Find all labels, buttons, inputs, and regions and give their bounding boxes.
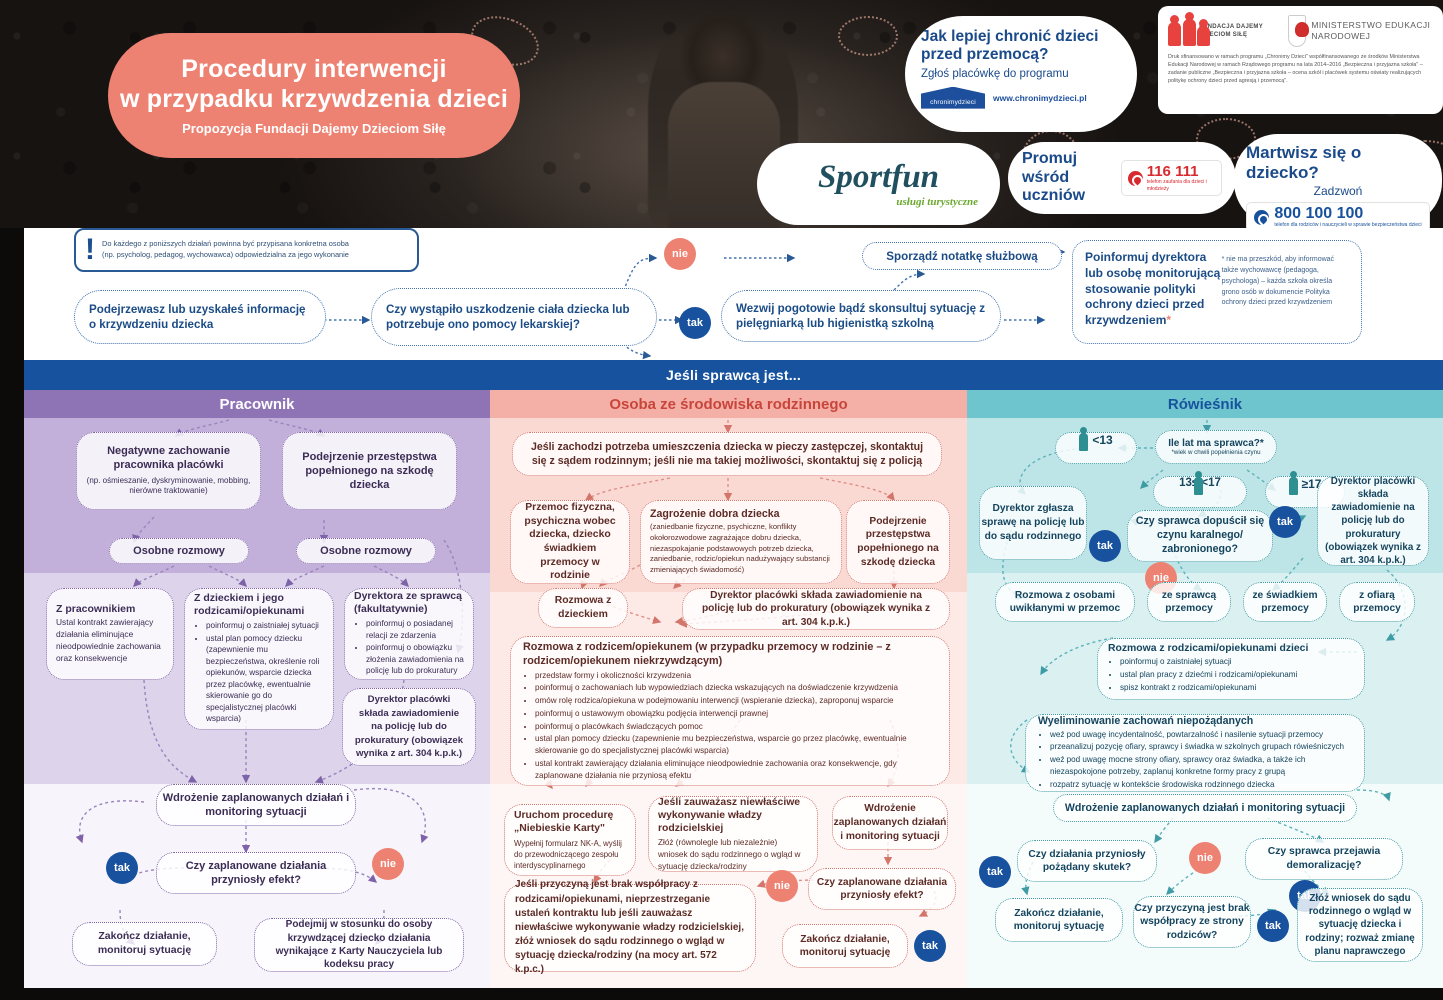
node-court-application[interactable]: Złóż wniosek do sądu rodzinnego o wgląd … <box>1297 888 1423 962</box>
fdds-label: FUNDACJA DAJEMY DZIECIOM SIŁĘ <box>1199 23 1276 39</box>
inform-title: Poinformuj dyrektora lub osobę monitoruj… <box>1085 250 1222 329</box>
men-logo: MINISTERSTWO EDUKACJI NARODOWEJ <box>1288 15 1433 47</box>
node-with-employee[interactable]: Z pracownikiem Ustal kontrakt zawierając… <box>46 588 174 680</box>
phone-icon <box>1128 171 1143 186</box>
node-write-memo[interactable]: Sporządź notatkę służbową <box>862 242 1062 270</box>
top-flow-band: ! Do każdego z poniższych działań powinn… <box>24 228 1443 360</box>
node-end-monitor[interactable]: Zakończ działanie, monitoruj sytuację <box>782 924 908 968</box>
label-no: nie <box>372 848 404 880</box>
ministry-fineprint: Druk sfinansowano w ramach programu „Chr… <box>1168 53 1433 85</box>
page-title: Procedury interwencji w przypadku krzywd… <box>108 33 520 158</box>
bullet: weź pod uwagę incydentalność, powtarzaln… <box>1050 729 1352 741</box>
callout-promo-116111[interactable]: Promuj wśród uczniów 116 111 telefon zau… <box>1008 142 1236 214</box>
node-child-welfare-threat[interactable]: Zagrożenie dobra dziecka (zaniedbanie fi… <box>640 500 842 584</box>
node-talk-with-child[interactable]: Rozmowa z dzieckiem <box>538 588 628 628</box>
bullet: rozpatrz sytuację w kontekście środowisk… <box>1050 779 1352 791</box>
node-employment-actions[interactable]: Podejmij w stosunku do osoby krzywdzącej… <box>254 918 464 972</box>
bullet: poinformuj o zaistniałej sytuacji <box>206 620 324 631</box>
inform-title-text: Poinformuj dyrektora lub osobę monitoruj… <box>1085 250 1220 327</box>
notice-box: ! Do każdego z poniższych działań powinn… <box>74 228 419 272</box>
polish-eagle-icon <box>1288 15 1306 47</box>
title-line-1: Procedury interwencji <box>181 55 446 85</box>
node-bullets: weź pod uwagę incydentalność, powtarzaln… <box>1050 729 1352 792</box>
node-implement-actions[interactable]: Wdrożenie zaplanowanych działań i monito… <box>1053 794 1357 822</box>
age-label: <13 <box>1092 433 1112 463</box>
node-title: Z pracownikiem <box>56 603 135 615</box>
node-bullets: poinformuj o zaistniałej sytuacji ustal … <box>206 620 324 725</box>
sponsor-tagline: usługi turystyczne <box>896 196 978 208</box>
logos-row: FUNDACJA DAJEMY DZIECIOM SIŁĘ MINISTERST… <box>1168 15 1433 47</box>
node-talk-with-involved[interactable]: Rozmowa z osobami uwikłanymi w przemoc <box>995 582 1135 622</box>
label-no: nie <box>664 238 696 270</box>
callout-worry-800100100[interactable]: Martwisz się o dziecko? Zadzwoń 800 100 … <box>1234 134 1442 226</box>
node-criminal-act-question[interactable]: Czy sprawca dopuścił się czynu karalnego… <box>1127 510 1273 562</box>
bottom-edge <box>0 988 1443 1000</box>
node-report-to-police[interactable]: Dyrektor zgłasza sprawę na policję lub d… <box>979 486 1087 560</box>
node-title: Rozmowa z rodzicem/opiekunem (w przypadk… <box>523 640 937 668</box>
node-court-application[interactable]: Jeśli przyczyną jest brak współpracy z r… <box>504 884 756 972</box>
bullet: ustal plan pracy z dziećmi i rodzicami/o… <box>1120 669 1297 681</box>
node-director-notify-police[interactable]: Dyrektor placówki składa zawiadomienie n… <box>1317 476 1429 566</box>
node-bullets: poinformuj o zaistniałej sytuacji ustal … <box>1120 656 1297 694</box>
phone-icon <box>1254 210 1269 225</box>
inform-footnote: * nie ma przeszkód, aby informować także… <box>1222 255 1349 309</box>
node-end-monitor[interactable]: Zakończ działanie, monitoruj sytuację <box>72 922 217 966</box>
node-director-notify-police[interactable]: Dyrektor placówki składa zawiadomienie n… <box>682 588 950 630</box>
men-label: MINISTERSTWO EDUKACJI NARODOWEJ <box>1311 20 1433 43</box>
node-with-child-and-parents[interactable]: Z dzieckiem i jego rodzicami/opiekunami … <box>184 588 334 730</box>
label-yes: tak <box>979 856 1011 888</box>
columns-container: Pracownik <box>24 390 1443 1000</box>
node-with-perpetrator[interactable]: ze sprawcą przemocy <box>1147 582 1231 622</box>
node-sub: (np. ośmieszanie, dyskryminowanie, mobbi… <box>85 476 252 497</box>
label-no: nie <box>766 870 798 902</box>
bullet: ustal kontrakt zawierający działania eli… <box>535 758 937 781</box>
title-subtitle: Propozycja Fundacji Dajemy Dzieciom Siłę <box>182 121 446 136</box>
program-heading-1: Jak lepiej chronić dzieci <box>921 28 1121 46</box>
column-rowiesnik: Rówieśnik <box>967 390 1443 1000</box>
label-no: nie <box>1189 842 1221 874</box>
node-inform-director[interactable]: Poinformuj dyrektora lub osobę monitoruj… <box>1072 240 1362 344</box>
node-parental-authority[interactable]: Jeśli zauważasz niewłaściwe wykonywanie … <box>648 796 818 872</box>
node-age-under13[interactable]: <13 <box>1055 432 1137 464</box>
bullet: poinformuj o ustawowym obowiązku podjęci… <box>535 708 937 720</box>
node-blue-cards-procedure[interactable]: Uruchom procedurę „Niebieskie Karty" Wyp… <box>504 804 636 876</box>
node-title: Negatywne zachowanie pracownika placówki <box>85 445 252 473</box>
node-crime-suspicion[interactable]: Podejrzenie przestępstwa popełnionego na… <box>282 432 457 510</box>
node-demoralization-question[interactable]: Czy sprawca przejawia demoralizację? <box>1245 838 1403 880</box>
label-yes: tak <box>914 930 946 962</box>
bullet: poinformuj o zachowaniach lub wypowiedzi… <box>535 682 937 694</box>
bullet: przedstaw formy i okoliczności krzywdzen… <box>535 670 937 682</box>
chronimydzieci-logo: chronimydzieci www.chronimydzieci.pl <box>921 87 1121 109</box>
person-icon <box>1079 433 1088 451</box>
node-title: Dyrektora ze sprawcą (fakultatywnie) <box>354 590 464 616</box>
node-title: Jeśli zauważasz niewłaściwe wykonywanie … <box>658 796 808 835</box>
bullet: weź pod uwagę mocne strony ofiary, spraw… <box>1050 754 1352 777</box>
notice-line-1: Do każdego z poniższych działań powinna … <box>102 239 349 250</box>
bullet: poinformuj o obowiązku złożenia zawiadom… <box>366 642 464 676</box>
helpline-116111[interactable]: 116 111 telefon zaufania dla dzieci i mł… <box>1121 160 1222 196</box>
age-question-note: *wiek w chwili popełnienia czynu <box>1160 449 1272 456</box>
node-effect-question[interactable]: Czy działania przyniosły pożądany skutek… <box>1017 840 1157 882</box>
node-crime-suspicion[interactable]: Podejrzenie przestępstwa popełnionego na… <box>846 500 950 584</box>
program-sub: Zgłoś placówkę do programu <box>921 68 1121 80</box>
callout-sponsor-sportfun[interactable]: Sportfun usługi turystyczne <box>757 143 1000 225</box>
bullet: poinformuj o placówkach świadczących pom… <box>535 721 937 733</box>
title-line-2: w przypadku krzywdzenia dzieci <box>120 85 508 115</box>
helpline-caption: telefon zaufania dla dzieci i młodzieży <box>1147 179 1215 192</box>
node-title: Wyeliminowanie zachowań niepożądanych <box>1038 715 1253 727</box>
column-title-rodzina: Osoba ze środowiska rodzinnego <box>490 390 967 418</box>
node-director-notify-police[interactable]: Dyrektor placówki składa zawiadomienie n… <box>342 688 476 766</box>
bullet: omów rolę rodzica/opiekuna w podejmowani… <box>535 695 937 707</box>
helpline-number: 800 100 100 <box>1274 206 1421 222</box>
program-url[interactable]: www.chronimydzieci.pl <box>993 93 1087 103</box>
node-cooperation-question[interactable]: Czy przyczyną jest brak współpracy ze st… <box>1133 896 1251 948</box>
column-pracownik: Pracownik <box>24 390 490 1000</box>
node-bullets: poinformuj o posiadanej relacji ze zdarz… <box>366 618 464 677</box>
sponsor-name: Sportfun <box>818 161 939 194</box>
node-foster-care[interactable]: Jeśli zachodzi potrzeba umieszczenia dzi… <box>512 432 942 476</box>
node-end-monitor[interactable]: Zakończ działanie, monitoruj sytuację <box>995 898 1123 942</box>
program-badge-label: chronimydzieci <box>930 99 976 109</box>
helpline-number: 116 111 <box>1147 164 1215 179</box>
node-sub: Wypełnij formularz NK-A, wyślij do przew… <box>514 838 626 871</box>
callout-ministry-logos: FUNDACJA DAJEMY DZIECIOM SIŁĘ MINISTERST… <box>1158 6 1443 114</box>
node-sub: Ustal kontrakt zawierający działania eli… <box>56 617 164 664</box>
age-question-text: Ile lat ma sprawca?* <box>1160 438 1272 450</box>
bullet: przeanalizuj pozycję ofiary, sprawcy i ś… <box>1050 741 1352 753</box>
node-with-witness[interactable]: ze świadkiem przemocy <box>1243 582 1327 622</box>
person-icon <box>1194 477 1203 495</box>
node-bullets: przedstaw formy i okoliczności krzywdzen… <box>535 670 937 783</box>
node-title: Z dzieckiem i jego rodzicami/opiekunami <box>194 592 324 618</box>
column-title-pracownik: Pracownik <box>24 390 490 418</box>
node-start[interactable]: Podejrzewasz lub uzyskałeś informację o … <box>74 290 326 344</box>
label-yes: tak <box>679 307 711 339</box>
node-implement-actions[interactable]: Wdrożenie zaplanowanych działań i monito… <box>156 784 356 826</box>
notice-text: Do każdego z poniższych działań powinna … <box>102 239 349 260</box>
callout-program[interactable]: Jak lepiej chronić dzieci przed przemocą… <box>905 16 1137 132</box>
node-effect-question[interactable]: Czy zaplanowane działania przyniosły efe… <box>156 852 356 894</box>
node-age-13-17[interactable]: 13≤ <17 <box>1153 476 1247 508</box>
house-icon: chronimydzieci <box>921 87 985 109</box>
separator-bar: Jeśli sprawcą jest... <box>24 360 1443 390</box>
fdds-logo: FUNDACJA DAJEMY DZIECIOM SIŁĘ <box>1168 16 1276 46</box>
label-yes-left: tak <box>1089 530 1121 562</box>
bullet: ustal plan pomocy dziecku (zapewnienie m… <box>535 733 937 756</box>
node-talk-with-parents[interactable]: Rozmowa z rodzicami/opiekunami dzieci po… <box>1097 638 1365 700</box>
exclamation-icon: ! <box>85 238 95 262</box>
footnote-star: * <box>1166 313 1171 327</box>
label-yes-right: tak <box>1269 506 1301 538</box>
node-sub: Złóż (równolegle lub niezależnie) wniose… <box>658 837 808 873</box>
decorative-swirl <box>838 16 898 56</box>
family-figures-icon <box>1168 16 1195 46</box>
worry-sub: Zadzwoń <box>1314 184 1363 198</box>
infographic-page: Procedury interwencji w przypadku krzywd… <box>0 0 1443 1000</box>
promo-heading-2: uczniów <box>1022 187 1113 205</box>
column-title-rowiesnik: Rówieśnik <box>967 390 1443 418</box>
bullet: poinformuj o posiadanej relacji ze zdarz… <box>366 618 464 641</box>
label-yes: tak <box>106 852 138 884</box>
promo-heading-1: Promuj wśród <box>1022 150 1113 187</box>
bullet: poinformuj o zaistniałej sytuacji <box>1120 656 1297 668</box>
notice-line-2: (np. psycholog, pedagog, wychowawca) odp… <box>102 250 349 261</box>
label-yes-cooperation: tak <box>1257 910 1289 942</box>
node-physical-violence[interactable]: Przemoc fizyczna, psychiczna wobec dziec… <box>510 500 630 584</box>
node-title: Uruchom procedurę „Niebieskie Karty" <box>514 809 626 835</box>
node-implement-actions[interactable]: Wdrożenie zaplanowanych działań i monito… <box>832 796 948 850</box>
worry-heading: Martwisz się o dziecko? <box>1246 143 1430 183</box>
node-call-help[interactable]: Wezwij pogotowie bądź skonsultuj sytuacj… <box>721 290 1001 342</box>
node-separate-talks-right[interactable]: Osobne rozmowy <box>296 538 436 564</box>
node-director-with-perpetrator[interactable]: Dyrektora ze sprawcą (fakultatywnie) poi… <box>344 588 474 680</box>
node-age-question[interactable]: Ile lat ma sprawca?* *wiek w chwili pope… <box>1155 430 1277 464</box>
node-with-victim[interactable]: z ofiarą przemocy <box>1339 582 1415 622</box>
bullet: ustal plan pomocy dziecku (zapewnienie m… <box>206 633 324 725</box>
node-effect-question[interactable]: Czy zaplanowane działania przyniosły efe… <box>808 868 956 910</box>
bullet: spisz kontrakt z rodzicami/opiekunami <box>1120 682 1297 694</box>
node-sub: (zaniedbanie fizyczne, psychiczne, konfl… <box>650 522 832 576</box>
node-talk-with-parent[interactable]: Rozmowa z rodzicem/opiekunem (w przypadk… <box>510 636 950 786</box>
node-title: Zagrożenie dobra dziecka <box>650 508 780 520</box>
node-eliminate-behaviors[interactable]: Wyeliminowanie zachowań niepożądanych we… <box>1025 714 1365 792</box>
program-heading-2: przed przemocą? <box>921 46 1121 64</box>
node-title: Rozmowa z rodzicami/opiekunami dzieci <box>1108 643 1308 654</box>
node-injury-question[interactable]: Czy wystąpiło uszkodzenie ciała dziecka … <box>371 288 657 346</box>
person-icon <box>1289 477 1298 495</box>
node-negative-behavior[interactable]: Negatywne zachowanie pracownika placówki… <box>76 432 261 510</box>
node-separate-talks-left[interactable]: Osobne rozmowy <box>109 538 249 564</box>
column-rodzina: Osoba ze środowiska rodzinnego <box>490 390 967 1000</box>
